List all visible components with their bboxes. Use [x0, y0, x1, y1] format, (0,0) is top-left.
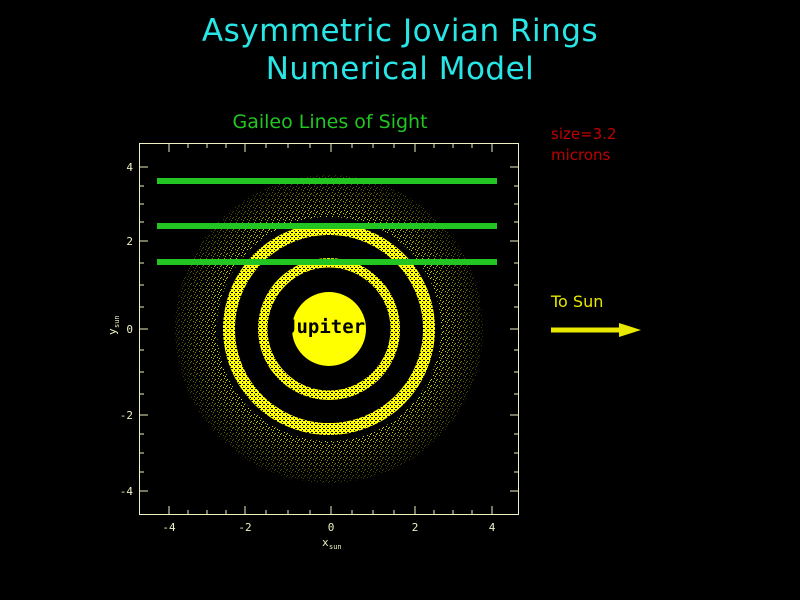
- y-axis-title: y sun: [106, 315, 121, 335]
- y-tick-label: 4: [126, 161, 133, 174]
- x-axis-title-subscript: sun: [329, 543, 342, 551]
- y-tick-label: -2: [120, 409, 133, 422]
- x-tick-label: 2: [412, 521, 419, 534]
- y-tick-label: 0: [126, 323, 133, 336]
- title-line-1: Asymmetric Jovian Rings: [0, 12, 800, 50]
- y-axis-title-subscript: sun: [113, 315, 121, 328]
- particle-size-line-2: microns: [551, 145, 701, 166]
- page-title: Asymmetric Jovian Rings Numerical Model: [0, 12, 800, 88]
- particle-size-line-1: size=3.2: [551, 124, 701, 145]
- arrow-right-icon: [551, 322, 641, 338]
- y-axis-title-text: y: [106, 328, 119, 335]
- particle-size-note: size=3.2 microns: [551, 124, 701, 166]
- y-tick-label: -4: [120, 485, 134, 498]
- title-line-2: Numerical Model: [0, 50, 800, 88]
- x-tick-label: -4: [162, 521, 176, 534]
- x-tick-label: 0: [328, 521, 335, 534]
- to-sun-label: To Sun: [551, 292, 603, 311]
- x-axis-title: x sun: [322, 536, 342, 551]
- x-tick-label: -2: [238, 521, 251, 534]
- y-tick-label: 2: [126, 235, 133, 248]
- x-axis-title-text: x: [322, 536, 329, 549]
- x-tick-label: 4: [489, 521, 496, 534]
- jupiter-label: Jupiter: [285, 316, 365, 338]
